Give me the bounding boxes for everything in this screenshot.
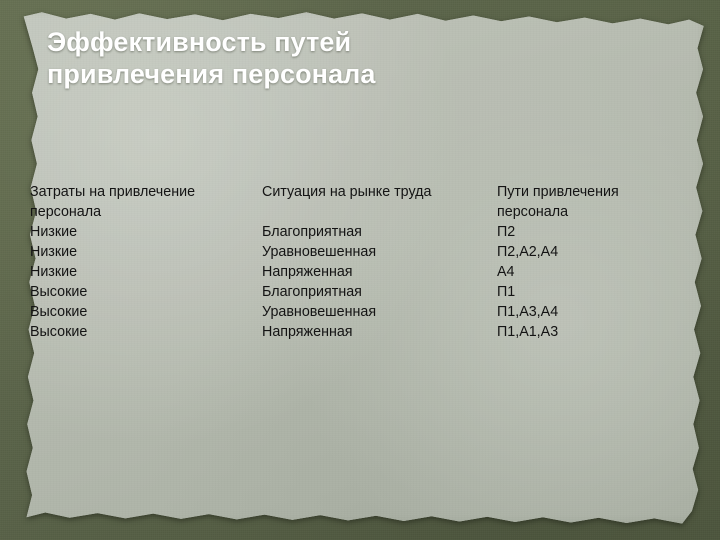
table-cell: Уравновешенная <box>262 302 492 322</box>
table-cell: Высокие <box>30 282 258 302</box>
table-cell: П2,А2,А4 <box>497 242 697 262</box>
table-cell: Высокие <box>30 322 258 342</box>
table-cell: Высокие <box>30 302 258 322</box>
table-cell: Благоприятная <box>262 282 492 302</box>
table-cell: Низкие <box>30 262 258 282</box>
column-header: Пути привлечения персонала <box>497 182 697 222</box>
table-cell: Напряженная <box>262 322 492 342</box>
table-column-labor-market: Ситуация на рынке труда Благоприятная Ур… <box>262 182 492 342</box>
table-cell: А4 <box>497 262 697 282</box>
table-cell: Напряженная <box>262 262 492 282</box>
table-cell: П2 <box>497 222 697 242</box>
table-column-costs: Затраты на привлечение персонала Низкие … <box>30 182 258 342</box>
column-header: Затраты на привлечение персонала <box>30 182 258 222</box>
column-header: Ситуация на рынке труда <box>262 182 492 222</box>
table-cell: П1,А3,А4 <box>497 302 697 322</box>
table-cell: Благоприятная <box>262 222 492 242</box>
table-cell: Низкие <box>30 222 258 242</box>
content-table: Затраты на привлечение персонала Низкие … <box>0 182 720 357</box>
table-cell: П1,А1,А3 <box>497 322 697 342</box>
table-cell: Уравновешенная <box>262 242 492 262</box>
table-cell: П1 <box>497 282 697 302</box>
slide-title: Эффективность путей привлечения персонал… <box>47 26 607 90</box>
table-cell: Низкие <box>30 242 258 262</box>
table-column-recruitment-paths: Пути привлечения персонала П2 П2,А2,А4 А… <box>497 182 697 342</box>
slide-content: Эффективность путей привлечения персонал… <box>0 0 720 540</box>
slide-canvas: Эффективность путей привлечения персонал… <box>0 0 720 540</box>
